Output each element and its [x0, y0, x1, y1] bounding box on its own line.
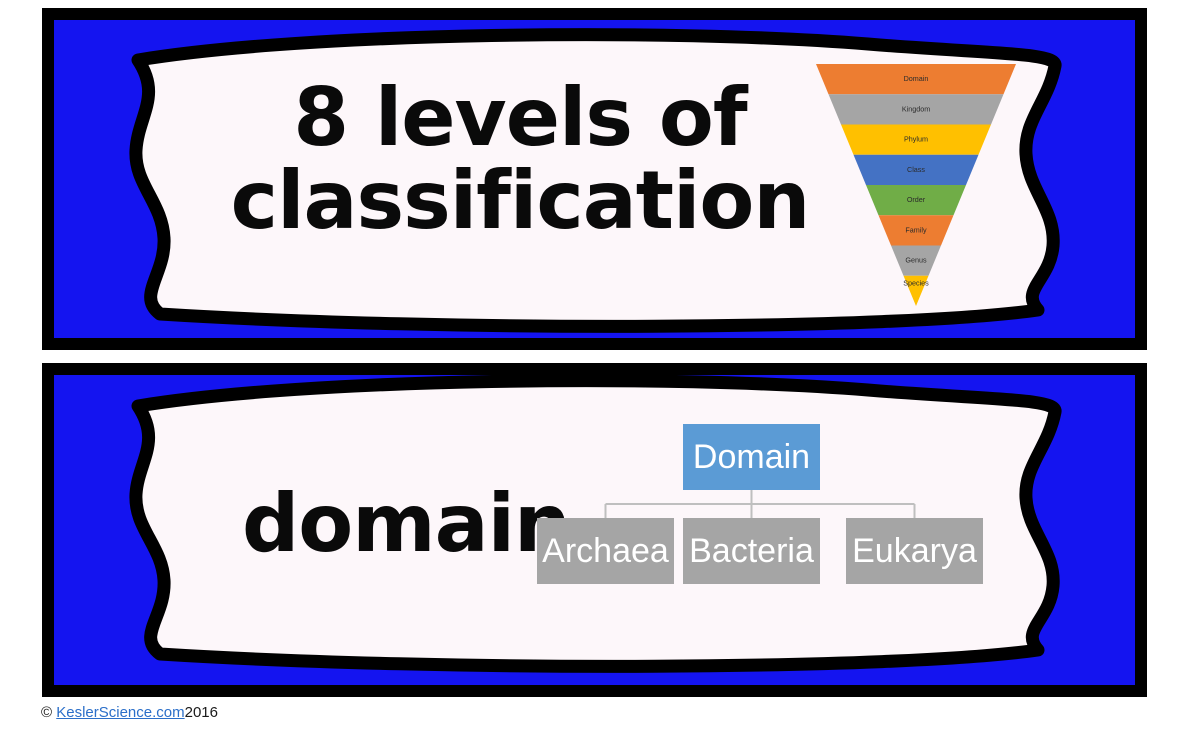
page-title-levels: 8 levels of classification [220, 76, 820, 242]
org-node-domain[interactable]: Domain [683, 424, 820, 490]
kesler-science-link[interactable]: KeslerScience.com [56, 704, 184, 721]
copyright-symbol: © [41, 704, 56, 721]
funnel-svg: Domain Kingdom Phylum Class Order Family… [794, 62, 1038, 306]
funnel-label-family: Family [905, 225, 927, 234]
classification-funnel-chart: Domain Kingdom Phylum Class Order Family… [794, 62, 1038, 306]
funnel-label-species: Species [903, 278, 929, 287]
funnel-label-order: Order [907, 195, 926, 204]
domain-hierarchy-diagram: Domain Archaea Bacteria Eukarya [528, 424, 988, 624]
funnel-label-domain: Domain [904, 74, 929, 83]
copyright-credit: © KeslerScience.com2016 [41, 704, 218, 721]
funnel-label-phylum: Phylum [904, 135, 928, 144]
card-top-content: 8 levels of classification [108, 24, 1083, 334]
slide-canvas: 8 levels of classification [0, 0, 1200, 729]
funnel-label-genus: Genus [905, 256, 927, 265]
copyright-year: 2016 [185, 704, 218, 721]
funnel-label-class: Class [907, 165, 925, 174]
funnel-levels [816, 64, 1016, 306]
org-node-eukarya[interactable]: Eukarya [846, 518, 983, 584]
card-domain: domain Domain Archaea Bacteria Eukarya [108, 372, 1083, 674]
card-levels-of-classification: 8 levels of classification [108, 24, 1083, 334]
funnel-label-kingdom: Kingdom [902, 104, 930, 113]
card-bottom-content: domain Domain Archaea Bacteria Eukarya [108, 372, 1083, 674]
org-node-bacteria[interactable]: Bacteria [683, 518, 820, 584]
org-node-archaea[interactable]: Archaea [537, 518, 674, 584]
